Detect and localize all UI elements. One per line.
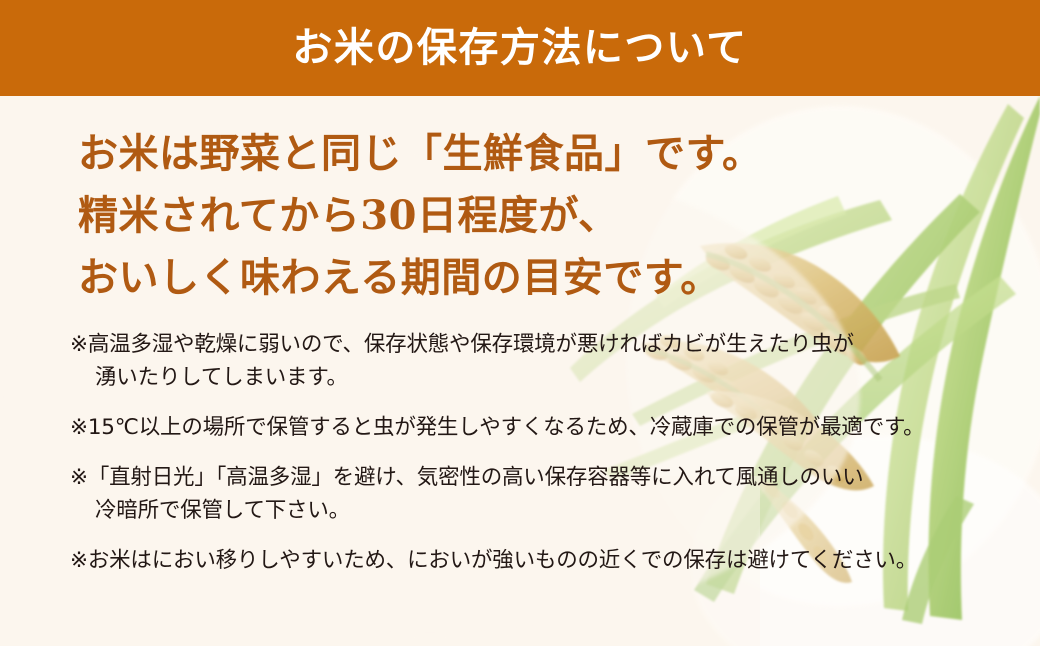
note-item: ※お米はにおい移りしやすいため、においが強いものの近くでの保存は避けてください。 [70,544,1000,577]
headline-block: お米は野菜と同じ「生鮮食品」です。 精米されてから30日程度が、 おいしく味わえ… [78,123,838,309]
note-line: 冷暗所で保管して下さい。 [70,494,1000,527]
note-line: ※「直射日光」「高温多湿」を避け、気密性の高い保存容器等に入れて風通しのいい [70,461,1000,494]
header-banner: お米の保存方法について [0,0,1040,96]
note-item: ※「直射日光」「高温多湿」を避け、気密性の高い保存容器等に入れて風通しのいい 冷… [70,461,1000,527]
note-line: ※15℃以上の場所で保管すると虫が発生しやすくなるため、冷蔵庫での保管が最適です… [70,411,1000,444]
storage-info-panel: お米の保存方法について お米は野菜と同じ「生鮮食品」です。 精米されてから30日… [0,0,1040,646]
headline-line-1: お米は野菜と同じ「生鮮食品」です。 [78,123,838,185]
notes-list: ※高温多湿や乾燥に弱いので、保存状態や保存環境が悪ければカビが生えたり虫が 湧い… [70,328,1000,577]
headline-line-2: 精米されてから30日程度が、 [78,185,838,247]
page-title: お米の保存方法について [292,28,747,68]
headline-line-3: おいしく味わえる期間の目安です。 [78,247,838,309]
note-line: ※お米はにおい移りしやすいため、においが強いものの近くでの保存は避けてください。 [70,544,1000,577]
note-line: 湧いたりしてしまいます。 [70,361,1000,394]
note-item: ※15℃以上の場所で保管すると虫が発生しやすくなるため、冷蔵庫での保管が最適です… [70,411,1000,444]
note-item: ※高温多湿や乾燥に弱いので、保存状態や保存環境が悪ければカビが生えたり虫が 湧い… [70,328,1000,394]
content-area: お米は野菜と同じ「生鮮食品」です。 精米されてから30日程度が、 おいしく味わえ… [0,96,1040,646]
note-line: ※高温多湿や乾燥に弱いので、保存状態や保存環境が悪ければカビが生えたり虫が [70,328,1000,361]
